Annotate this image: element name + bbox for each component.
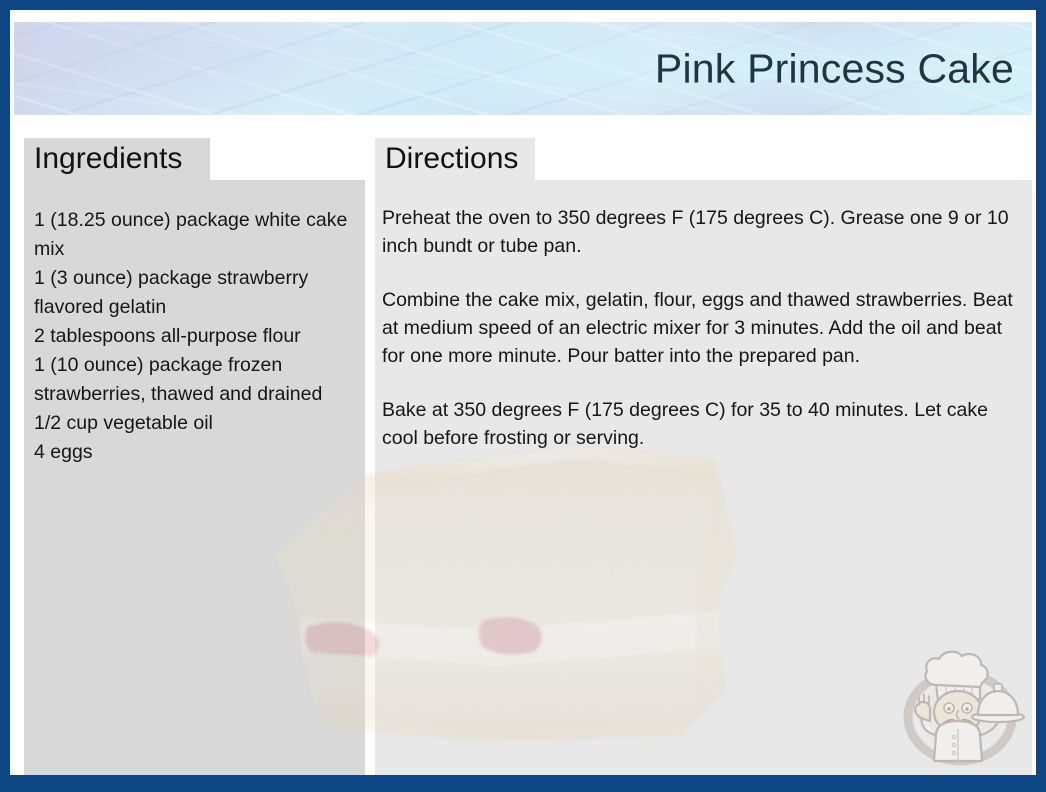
direction-step: Bake at 350 degrees F (175 degrees C) fo… — [382, 396, 1018, 452]
list-item: 1/2 cup vegetable oil — [34, 409, 356, 438]
directions-section-tab: Directions — [375, 138, 535, 180]
list-item: 1 (3 ounce) package strawberry flavored … — [34, 264, 356, 322]
list-item: 1 (18.25 ounce) package white cake mix — [34, 206, 356, 264]
recipe-card: Pink Princess Cake Ingredients 1 (18.25 … — [0, 0, 1046, 792]
list-item: 2 tablespoons all-purpose flour — [34, 322, 356, 351]
page-title: Pink Princess Cake — [655, 48, 1014, 89]
page-surface: Pink Princess Cake Ingredients 1 (18.25 … — [10, 10, 1036, 775]
direction-step: Combine the cake mix, gelatin, flour, eg… — [382, 286, 1018, 370]
ingredients-panel: 1 (18.25 ounce) package white cake mix 1… — [24, 180, 365, 775]
directions-panel: Preheat the oven to 350 degrees F (175 d… — [375, 180, 1032, 775]
list-item: 1 (10 ounce) package frozen strawberries… — [34, 351, 356, 409]
ingredients-section-tab: Ingredients — [24, 138, 210, 180]
direction-step: Preheat the oven to 350 degrees F (175 d… — [382, 204, 1018, 260]
list-item: 4 eggs — [34, 438, 356, 467]
header-banner: Pink Princess Cake — [14, 22, 1032, 115]
directions-steps: Preheat the oven to 350 degrees F (175 d… — [382, 204, 1018, 452]
ingredients-list: 1 (18.25 ounce) package white cake mix 1… — [34, 206, 356, 467]
